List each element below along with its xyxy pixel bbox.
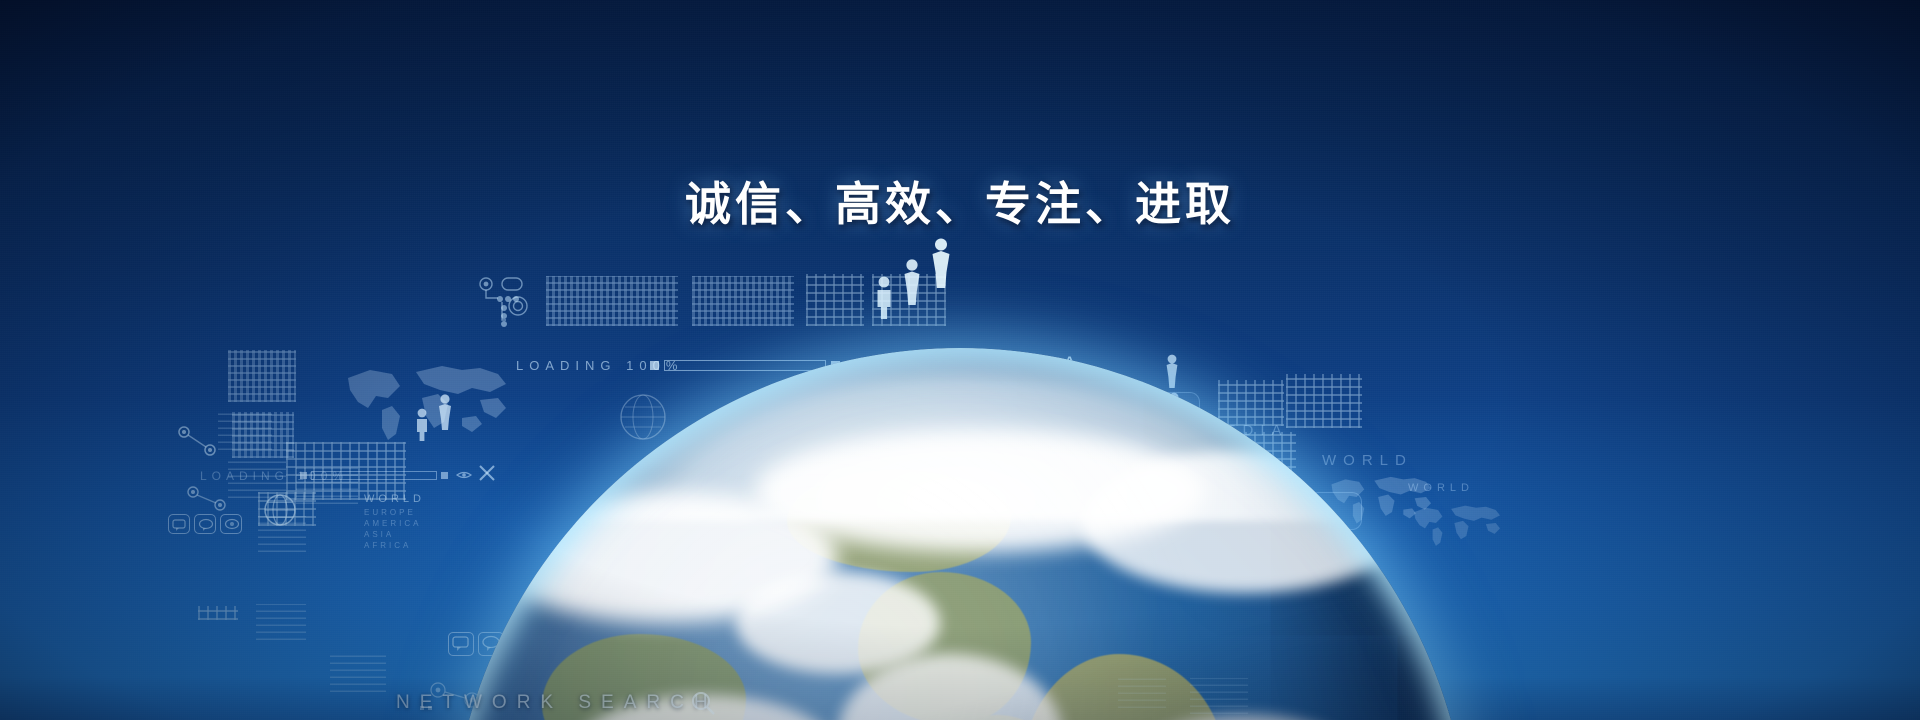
earth-globe	[450, 348, 1470, 720]
page-title: 诚信、高效、专注、进取	[0, 168, 1920, 234]
hero-banner: LOADING 100% WORLD EUROPE AMERICA ASIA A…	[0, 0, 1920, 720]
earth-sphere	[450, 348, 1470, 720]
